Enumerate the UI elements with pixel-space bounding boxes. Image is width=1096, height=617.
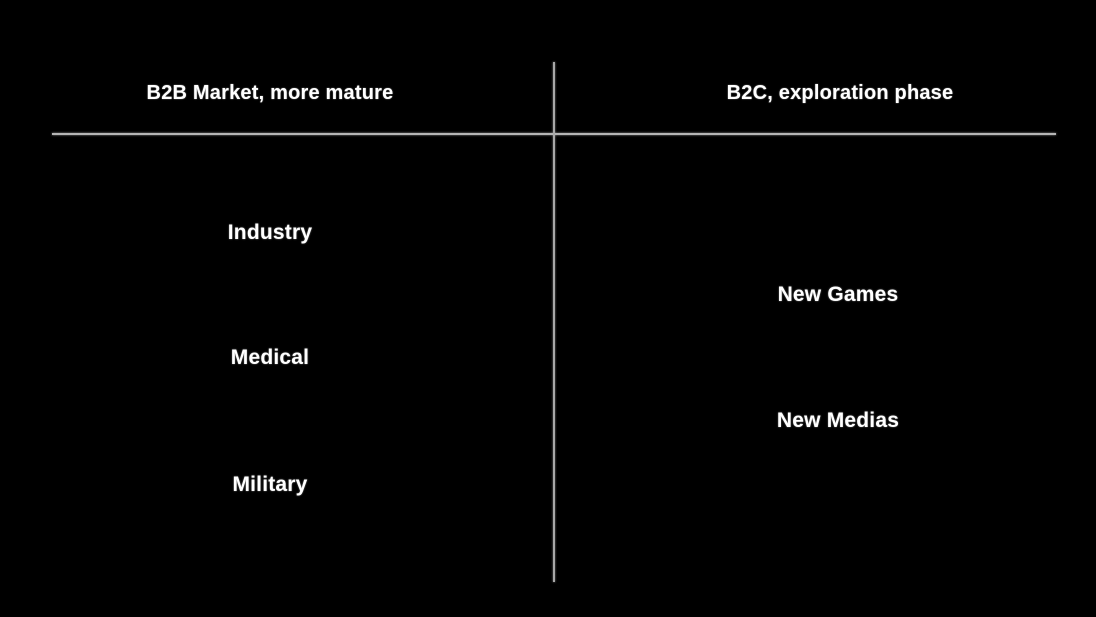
column-divider-vertical xyxy=(553,62,555,582)
list-item-new-medias: New Medias xyxy=(588,409,1088,433)
list-item-military: Military xyxy=(20,473,520,497)
slide-canvas: B2B Market, more mature B2C, exploration… xyxy=(0,0,1096,617)
column-header-b2b: B2B Market, more mature xyxy=(20,82,520,105)
list-item-new-games: New Games xyxy=(588,283,1088,307)
list-item-industry: Industry xyxy=(20,221,520,245)
list-item-medical: Medical xyxy=(20,346,520,370)
column-header-b2c: B2C, exploration phase xyxy=(590,82,1090,105)
